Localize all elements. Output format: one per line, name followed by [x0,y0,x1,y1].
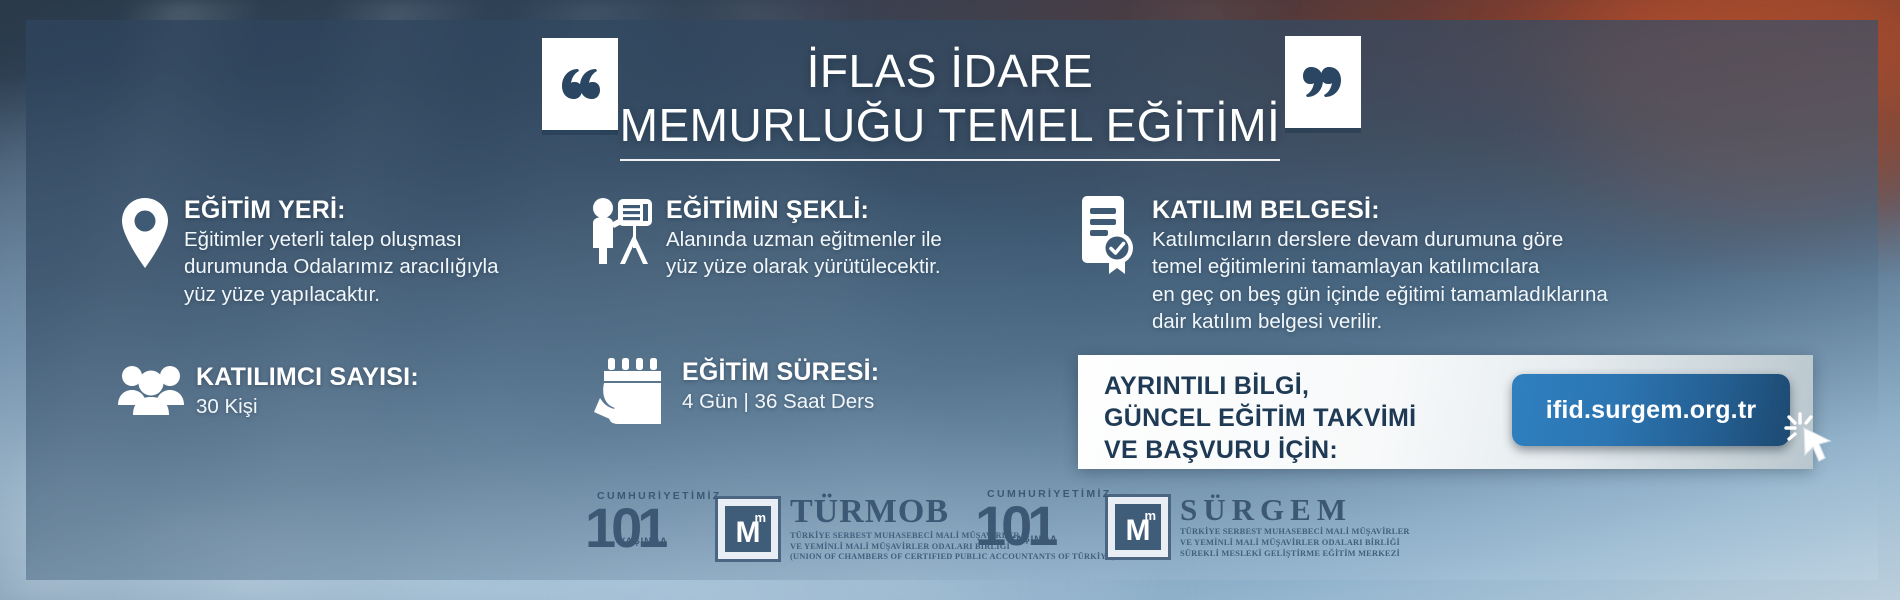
anniversary-number: 101 [585,500,663,556]
feature-body: Katılımcıların derslere devam durumuna g… [1152,226,1608,336]
feature-heading: KATILIMCI SAYISI: [196,363,419,392]
logo-subtitle: TÜRKİYE SERBEST MUHASEBECİ MALİ MÜŞAVİRL… [1180,527,1410,559]
presenter-board-icon [590,196,654,271]
cta-website-button[interactable]: ifid.surgem.org.tr [1512,374,1790,446]
people-group-icon [118,363,184,422]
calendar-icon [592,358,670,435]
title-line-2: MEMURLUĞU TEMEL EĞİTİMİ [620,98,1281,160]
feature-heading: EĞİTİM SÜRESİ: [682,358,879,387]
feature-body: Alanında uzman eğitmenler ile yüz yüze o… [666,226,942,281]
certificate-icon [1078,196,1140,281]
feature-egitim-suresi: EĞİTİM SÜRESİ: 4 Gün | 36 Saat Ders [592,358,879,435]
banner-root: İFLAS İDARE MEMURLUĞU TEMEL EĞİTİMİ EĞİT… [0,0,1900,600]
anniversary-bottom-text: YAŞINDA [619,536,668,547]
logo-name: SÜRGEM [1180,494,1410,525]
anniversary-101-icon: CUMHURİYETİMİZ 101 YAŞINDA [975,490,1103,564]
logo-surgem: CUMHURİYETİMİZ 101 YAŞINDA M m SÜRGEM TÜ… [975,490,1410,564]
anniversary-number: 101 [975,498,1053,554]
feature-katilimci-sayisi: KATILIMCI SAYISI: 30 Kişi [118,363,419,422]
turmob-mark-icon: M m [715,496,781,562]
location-pin-icon [118,196,172,275]
cta-text: AYRINTILI BİLGİ, GÜNCEL EĞİTİM TAKVİMİ V… [1104,370,1416,466]
mark-superscript: m [1144,508,1156,523]
mark-superscript: m [754,510,766,525]
anniversary-bottom-text: YAŞINDA [1009,534,1058,545]
feature-egitimin-sekli: EĞİTİMİN ŞEKLİ: Alanında uzman eğitmenle… [590,196,942,281]
feature-heading: EĞİTİMİN ŞEKLİ: [666,196,942,225]
feature-egitim-yeri: EĞİTİM YERİ: Eğitimler yeterli talep olu… [118,196,498,308]
feature-body: 30 Kişi [196,393,419,420]
cta-panel: AYRINTILI BİLGİ, GÜNCEL EĞİTİM TAKVİMİ V… [1078,355,1813,469]
feature-katilim-belgesi: KATILIM BELGESİ: Katılımcıların derslere… [1078,196,1608,336]
title-line-1: İFLAS İDARE [0,44,1900,98]
feature-heading: KATILIM BELGESİ: [1152,196,1608,225]
anniversary-101-icon: CUMHURİYETİMİZ 101 YAŞINDA [585,492,713,566]
feature-body: Eğitimler yeterli talep oluşması durumun… [184,226,498,308]
feature-body: 4 Gün | 36 Saat Ders [682,388,879,415]
page-title: İFLAS İDARE MEMURLUĞU TEMEL EĞİTİMİ [0,44,1900,161]
surgem-mark-icon: M m [1105,494,1171,560]
feature-heading: EĞİTİM YERİ: [184,196,498,225]
